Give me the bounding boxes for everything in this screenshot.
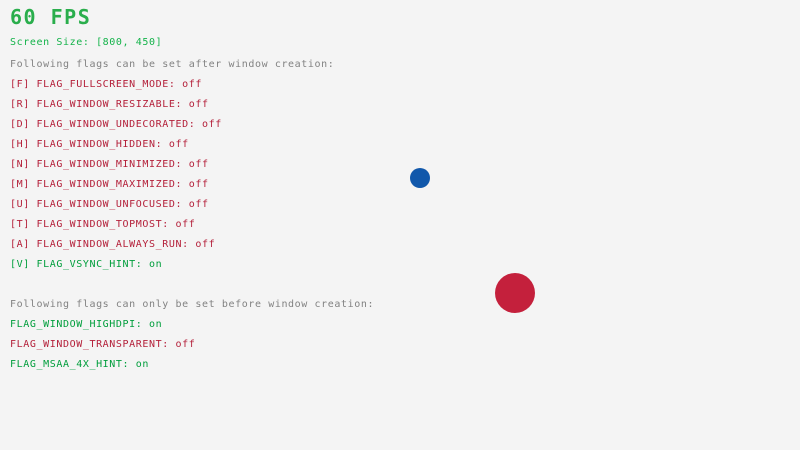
section-heading-after-creation: Following flags can be set after window …	[10, 59, 334, 71]
flag-row-flag-window-maximized[interactable]: [M] FLAG_WINDOW_MAXIMIZED: off	[10, 179, 209, 191]
raylib-window-canvas[interactable]: 60 FPS Screen Size: [800, 450] Following…	[0, 0, 800, 450]
flag-row-flag-fullscreen-mode[interactable]: [F] FLAG_FULLSCREEN_MODE: off	[10, 79, 202, 91]
flag-row-flag-window-always-run[interactable]: [A] FLAG_WINDOW_ALWAYS_RUN: off	[10, 239, 215, 251]
flag-row-flag-msaa-4x-hint[interactable]: FLAG_MSAA_4X_HINT: on	[10, 359, 149, 371]
flag-row-flag-window-unfocused[interactable]: [U] FLAG_WINDOW_UNFOCUSED: off	[10, 199, 209, 211]
flag-row-flag-vsync-hint[interactable]: [V] FLAG_VSYNC_HINT: on	[10, 259, 162, 271]
flag-row-flag-window-minimized[interactable]: [N] FLAG_WINDOW_MINIMIZED: off	[10, 159, 209, 171]
flag-row-flag-window-resizable[interactable]: [R] FLAG_WINDOW_RESIZABLE: off	[10, 99, 209, 111]
fps-counter: 60 FPS	[10, 7, 91, 27]
flag-row-flag-window-undecorated[interactable]: [D] FLAG_WINDOW_UNDECORATED: off	[10, 119, 222, 131]
flag-row-flag-window-topmost[interactable]: [T] FLAG_WINDOW_TOPMOST: off	[10, 219, 195, 231]
screen-size-label: Screen Size: [800, 450]	[10, 37, 162, 49]
flag-row-flag-window-highdpi[interactable]: FLAG_WINDOW_HIGHDPI: on	[10, 319, 162, 331]
flag-row-flag-window-transparent[interactable]: FLAG_WINDOW_TRANSPARENT: off	[10, 339, 195, 351]
flag-row-flag-window-hidden[interactable]: [H] FLAG_WINDOW_HIDDEN: off	[10, 139, 189, 151]
bouncing-ball-large-icon	[495, 273, 535, 313]
bouncing-ball-small-icon	[410, 168, 430, 188]
section-heading-before-creation: Following flags can only be set before w…	[10, 299, 374, 311]
